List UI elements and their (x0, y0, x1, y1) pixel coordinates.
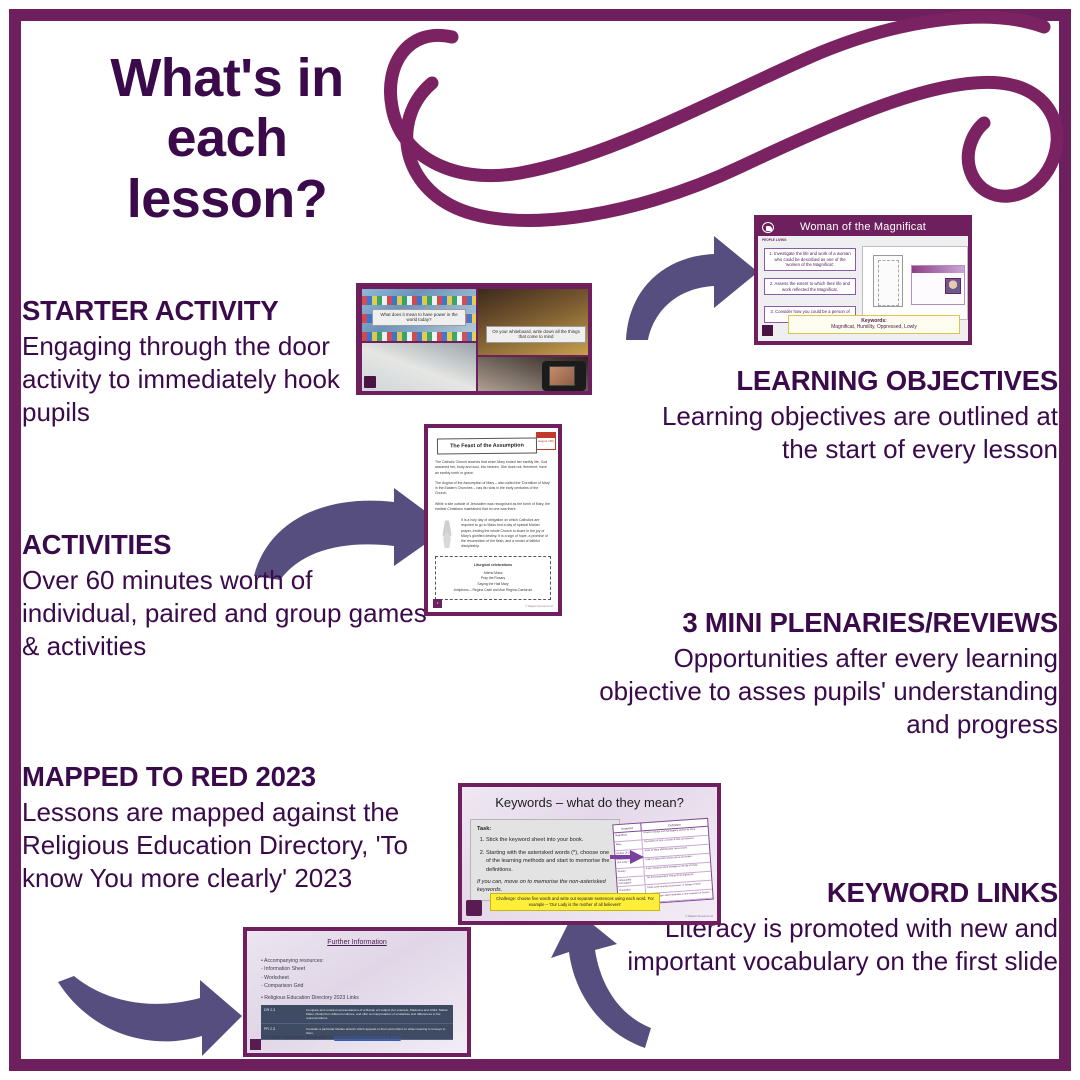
resource-item: - Information Sheet (261, 965, 324, 973)
pointer-arrow-icon (610, 849, 644, 865)
calendar-icon: August 15th (536, 432, 556, 450)
collage-caption-1: What does it mean to have power in the w… (372, 309, 466, 326)
section-body: Learning objectives are outlined at the … (640, 400, 1058, 466)
slide-title: Keywords – what do they mean? (462, 795, 717, 810)
arrow-to-learning-objectives-icon (618, 228, 763, 343)
infographic-page: What's in each lesson? STARTER ACTIVITY … (0, 0, 1080, 1080)
worksheet-paragraph: The dogma of the Assumption of Mary – al… (435, 481, 551, 497)
brand-logo-icon (364, 376, 376, 388)
section-learning-objectives: LEARNING OBJECTIVES Learning objectives … (640, 366, 1058, 466)
section-heading: MAPPED TO RED 2023 (22, 762, 452, 792)
table-row: DR 2.3 Compare and contrast representati… (261, 1005, 453, 1024)
worksheet-paragraph: The Catholic Church teaches that when Ma… (435, 460, 551, 476)
brand-logo-icon (250, 1039, 261, 1050)
worksheet-paragraph: While a site outside of Jerusalem was re… (435, 502, 551, 513)
worksheet-page: August 15th The Feast of the Assumption … (428, 428, 558, 612)
portrait-thumbnail (945, 278, 961, 294)
red-links-label: • Religious Education Directory 2023 Lin… (261, 995, 359, 1001)
page-title: What's in each lesson? (62, 48, 392, 229)
inner-slide-preview (911, 265, 965, 305)
praying-hands-icon (437, 518, 457, 548)
photo-judge (478, 289, 592, 355)
slide-body: PEOPLE LIVING 1. Investigate the life an… (758, 236, 968, 341)
worksheet-prayer-note: It is a holy day of obligation on which … (435, 518, 551, 550)
slide-diagram-area (862, 246, 968, 320)
section-heading: LEARNING OBJECTIVES (640, 366, 1058, 396)
section-starter-activity: STARTER ACTIVITY Engaging through the do… (22, 296, 372, 429)
collage-caption-2: On your whiteboard, write down all the t… (486, 326, 586, 343)
worksheet-prayer-text: It is a holy day of obligation on which … (461, 518, 551, 550)
resources-website-link[interactable]: www.magisterresources.com (334, 1035, 400, 1041)
photo-private-jet (362, 343, 476, 395)
arrow-to-further-information-icon (52, 972, 247, 1067)
liturgical-item: Saying the Hail Mary (477, 582, 508, 586)
keywords-box: Keywords: Magnificat, Humility, Oppresse… (788, 315, 960, 335)
learning-objective-1: 1. Investigate the life and work of a wo… (764, 248, 856, 271)
footer-resources-line: • Further resources available at www.mag… (261, 1035, 401, 1041)
inner-slide-titlebar (912, 266, 964, 273)
challenge-callout: Challenge: choose five words and write o… (490, 893, 660, 911)
slide-thumbnail-keywords[interactable]: Keywords – what do they mean? Task: Stic… (458, 783, 721, 925)
section-body: Opportunities after every learning objec… (570, 642, 1058, 740)
brand-logo-icon (762, 325, 773, 336)
worksheet-title: The Feast of the Assumption (437, 437, 537, 454)
section-heading: ACTIVITIES (22, 530, 434, 560)
section-mini-plenaries: 3 MINI PLENARIES/REVIEWS Opportunities a… (570, 608, 1058, 741)
liturgical-item: Antiphons – Regina Caeli and Ave Regina … (454, 588, 533, 592)
liturgical-item: Pray the Rosary (481, 576, 505, 580)
credit-line: © Magister Resources Ltd (685, 915, 713, 918)
task-label: Task: (477, 825, 613, 833)
slide-thumbnail-further-information[interactable]: Further Information • Accompanying resou… (243, 927, 471, 1057)
slide-title: Woman of the Magnificat (758, 221, 968, 233)
section-body: Lessons are mapped against the Religious… (22, 796, 452, 894)
brand-logo-icon (466, 900, 482, 916)
accompanying-resources-list: • Accompanying resources: - Information … (261, 957, 324, 991)
decorative-swoosh-icon (380, 5, 1080, 245)
resources-label: • Accompanying resources: (261, 957, 324, 965)
door-graphic-icon (873, 255, 903, 307)
cell-code: DR 2.3 (261, 1005, 303, 1023)
slide-corner-label: PEOPLE LIVING (762, 239, 786, 243)
credit-line: © Magister Resources Ltd (525, 605, 553, 608)
task-item: Stick the keyword sheet into your book. (486, 836, 613, 844)
calendar-label: August 15th (537, 439, 555, 443)
section-body: Engaging through the door activity to im… (22, 330, 372, 428)
cell-description: Compare and contrast representations of … (303, 1005, 453, 1023)
section-heading: 3 MINI PLENARIES/REVIEWS (570, 608, 1058, 638)
keywords-list: Magnificat, Humility, Oppressed, Lowly (831, 324, 917, 330)
slide-thumbnail-learning-objectives[interactable]: Woman of the Magnificat PEOPLE LIVING 1.… (754, 215, 972, 345)
slide-title-bar: Woman of the Magnificat (758, 219, 968, 236)
liturgical-item: Attend Mass (484, 571, 503, 575)
section-body: Over 60 minutes worth of individual, pai… (22, 564, 434, 662)
slide-thumbnail-starter-activity[interactable]: What does it mean to have power in the w… (356, 283, 592, 395)
task-instructions: Task: Stick the keyword sheet into your … (470, 819, 620, 901)
liturgical-celebrations-box: Liturgical celebrations Attend Mass Pray… (435, 556, 551, 600)
slide-thumbnail-activities-worksheet[interactable]: August 15th The Feast of the Assumption … (424, 424, 562, 616)
learning-objective-2: 2. Assess the extent to which their life… (764, 278, 856, 295)
slide-title: Further Information (247, 939, 467, 946)
liturgical-title: Liturgical celebrations (440, 562, 546, 568)
section-heading: STARTER ACTIVITY (22, 296, 372, 326)
page-number: 1 (433, 599, 442, 608)
resource-item: - Comparison Grid (261, 982, 324, 990)
resource-item: - Worksheet (261, 974, 324, 982)
photo-collage: What does it mean to have power in the w… (360, 287, 588, 391)
section-activities: ACTIVITIES Over 60 minutes worth of indi… (22, 530, 434, 663)
keywords-label: Keywords: (861, 318, 887, 324)
photo-camera (478, 357, 592, 395)
section-mapped-to-red-2023: MAPPED TO RED 2023 Lessons are mapped ag… (22, 762, 452, 895)
task-item: Starting with the asterisked words (*), … (486, 849, 613, 874)
